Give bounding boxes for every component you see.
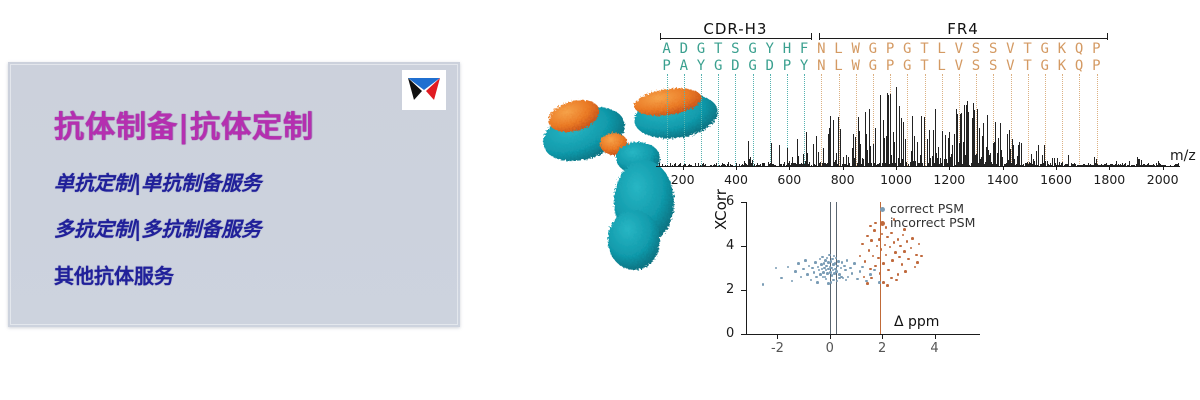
scatter-point-series-0 [816,281,819,284]
scatter-point-series-1 [920,255,923,258]
scatter-point-series-0 [802,268,805,271]
spectrum-tick-label: 200 [671,172,695,187]
spectrum-peak [912,116,913,166]
scatter-point-series-0 [762,283,765,286]
spectrum-peak [921,116,922,166]
region-cdrh3-line [660,38,811,39]
residue: D [761,58,778,74]
scatter-point-series-0 [825,265,828,268]
scatter-point-series-1 [866,282,869,285]
spectrum-peak [986,158,987,166]
scatter-point-series-1 [887,269,890,272]
residue: P [778,58,795,74]
scatter-point-series-1 [903,250,906,253]
scatter-point-series-1 [886,236,889,239]
spectrum-peak [949,133,950,166]
spectrum-peak [797,139,798,166]
residue: G [1036,58,1053,74]
spectrum-peak [929,140,930,166]
scatter-point-series-0 [878,281,881,284]
residue: V [1002,41,1019,57]
scatter-point-series-0 [811,267,814,270]
spectrum-x-axis-label: m/z [1170,148,1196,164]
scatter-point-series-0 [818,269,821,272]
spectrum-peak [816,136,817,166]
spectrum-peak [942,131,943,166]
scatter-point-series-1 [891,259,894,262]
spectrum-peak [1038,145,1039,166]
spectrum-peak [974,110,975,167]
scatter-point-series-0 [849,267,852,270]
spectrum-peak [896,87,897,166]
scatter-point-series-0 [828,254,831,257]
spectrum-peak [901,118,902,166]
spectrum-tick [1163,166,1164,170]
residue: P [658,58,675,74]
spectrum-tick-label: 2000 [1147,172,1179,187]
spectrum-peak [972,118,973,166]
residue: Y [761,41,778,57]
scatter-point-series-0 [861,266,864,269]
scatter-point-series-0 [808,265,811,268]
residue: G [864,58,881,74]
scatter-point-series-1 [890,277,893,280]
scatter-x-tick-label: 2 [878,341,886,356]
scatter-point-series-0 [780,277,783,280]
scatter-point-series-0 [794,270,797,273]
residue: H [778,41,795,57]
scatter-point-series-0 [815,276,818,279]
scatter-point-series-1 [890,232,893,235]
residue: Y [796,58,813,74]
scatter-point-series-1 [901,263,904,266]
scatter-point-series-0 [841,261,844,264]
scatter-point-series-0 [830,260,833,263]
scatter-point-series-1 [878,238,881,241]
residue: T [916,58,933,74]
scatter-point-series-0 [856,278,859,281]
page-title: 抗体制备|抗体定制 [54,102,314,146]
scatter-y-tick [741,202,747,203]
scatter-point-series-1 [870,239,873,242]
residue: S [967,58,984,74]
scatter-point-series-1 [882,262,885,265]
sequence-row-1: ADGTSGYHFNLWGPGTLVSSVTGKQP [658,40,1178,57]
legend-label: incorrect PSM [890,216,975,230]
spectrum-x-axis [656,166,1180,167]
scatter-point-series-1 [863,276,866,279]
scatter-point-series-0 [844,269,847,272]
scatter-point-series-0 [825,278,828,281]
scatter-y-tick-label: 2 [726,282,734,297]
scatter-point-series-1 [911,237,914,240]
scatter-point-series-0 [859,270,862,273]
region-fr4-line [819,38,1107,39]
spectrum-peak [829,157,830,166]
spectrum-peak [977,109,978,166]
scatter-point-series-0 [821,256,824,259]
residue: Y [692,58,709,74]
residue: T [710,41,727,57]
spectrum-peak [966,105,967,166]
residue: S [985,41,1002,57]
spectrum-peak [858,117,859,166]
residue: K [1053,41,1070,57]
scatter-point-series-1 [869,268,872,271]
scatter-point-series-1 [868,249,871,252]
scatter-point-series-1 [859,255,862,258]
scatter-y-tick-label: 6 [726,194,734,209]
spectrum-peak [914,136,915,166]
residue: F [796,41,813,57]
scatter-point-series-0 [845,279,848,282]
scatter-point-series-0 [840,267,843,270]
scatter-point-series-1 [899,245,902,248]
scatter-point-series-0 [840,276,843,279]
spectrum-peak [859,131,860,166]
scatter-point-series-1 [874,222,877,225]
spectrum-peak [838,117,839,166]
legend-label: correct PSM [890,202,964,216]
spectrum-peak [875,128,876,166]
residue: V [1002,58,1019,74]
scatter-point-series-0 [797,262,800,265]
scatter-y-tick [741,246,747,247]
spectrum-peak [880,95,881,166]
scatter-point-series-0 [813,271,816,274]
region-fr4-tick [819,33,820,40]
scatter-point-series-1 [880,248,883,251]
residue: D [727,58,744,74]
scatter-point-series-1 [897,273,900,276]
residue: T [1019,41,1036,57]
scatter-x-axis [746,334,980,335]
legend-item-1: incorrect PSM [880,216,975,230]
spectrum-tick [683,166,684,170]
spectrum-peak [893,132,894,167]
residue: L [830,58,847,74]
scatter-x-tick-label: -2 [771,341,784,356]
scatter-x-tick-label: 4 [930,341,938,356]
spectrum-peak [995,122,996,166]
scatter-point-series-0 [873,269,876,272]
scatter-point-series-0 [822,271,825,274]
residue: L [933,41,950,57]
scatter-y-tick-label: 0 [726,326,734,341]
residue: N [813,41,830,57]
scatter-point-series-0 [800,276,803,279]
region-cdrh3-tick [811,33,812,40]
residue: P [881,41,898,57]
scatter-x-tick [777,334,778,339]
residue: W [847,58,864,74]
xcorr-scatter-plot: XCorr Δ ppm correct PSMincorrect PSM 024… [698,196,978,361]
spectrum-tick-label: 1600 [1040,172,1072,187]
spectrum-peak [813,144,814,166]
scatter-y-tick-label: 4 [726,238,734,253]
scatter-point-series-1 [894,251,897,254]
scatter-point-series-1 [906,240,909,243]
scatter-x-tick [935,334,936,339]
legend-dot-icon [880,207,885,212]
services-panel: 抗体制备|抗体定制 单抗定制|单抗制备服务 多抗定制|多抗制备服务 其他抗体服务 [8,62,460,327]
residue: W [847,41,864,57]
spectrum-tick [789,166,790,170]
scatter-point-series-0 [853,262,856,265]
spectrum-tick-label: 1400 [987,172,1019,187]
scatter-point-series-1 [866,235,869,238]
scatter-x-tick [830,334,831,339]
scatter-point-series-0 [787,266,790,269]
scatter-point-series-1 [918,243,921,246]
spectrum-peak [968,112,969,166]
scatter-point-series-0 [791,280,794,283]
residue: G [710,58,727,74]
scatter-point-series-0 [806,273,809,276]
spectrum-tick [736,166,737,170]
scatter-point-series-0 [829,271,832,274]
spectrum-peak [854,158,855,166]
scatter-point-series-1 [916,261,919,264]
legend-item-0: correct PSM [880,202,975,216]
scatter-point-series-1 [873,229,876,232]
scatter-point-series-1 [914,266,917,269]
spectrum-peak [890,94,891,166]
spectrum-peak [948,138,949,166]
scatter-point-series-0 [837,260,840,263]
scatter-point-series-1 [886,284,889,287]
scatter-y-tick [741,290,747,291]
residue: V [950,41,967,57]
nav-link-polyclonal[interactable]: 多抗定制|多抗制备服务 [54,213,261,242]
spectrum-tick [1056,166,1057,170]
scatter-point-series-1 [898,256,901,259]
nav-link-monoclonal[interactable]: 单抗定制|单抗制备服务 [54,167,261,196]
spectrum-peak [945,135,946,166]
residue: Q [1071,41,1088,57]
scatter-point-series-0 [836,265,839,268]
spectrum-peak [883,120,884,166]
residue: S [727,41,744,57]
scatter-point-series-1 [864,260,867,263]
residue: G [864,41,881,57]
antibody-sequencing-figure: CDR-H3FR4 ADGTSGYHFNLWGPGTLVSSVTGKQP PAY… [520,0,1200,400]
residue: S [985,58,1002,74]
region-cdrh3-tick [660,33,661,40]
spectrum-peak [1007,134,1008,167]
scatter-legend: correct PSMincorrect PSM [880,202,975,230]
spectrum-peak [1013,145,1014,166]
spectrum-peak [833,120,834,166]
residue: G [1036,41,1053,57]
residue: P [1088,58,1105,74]
spectrum-peak [1019,142,1020,166]
scatter-point-series-1 [904,270,907,273]
residue: G [744,41,761,57]
residue: T [916,41,933,57]
residue: Q [1071,58,1088,74]
spectrum-peak [865,112,866,166]
scatter-point-series-1 [876,245,879,248]
region-fr4-tick [1107,33,1108,40]
scatter-point-series-1 [861,243,864,246]
scatter-point-series-1 [907,258,910,261]
spectrum-tick-label: 1000 [880,172,912,187]
company-logo [402,70,446,110]
scatter-point-series-1 [872,255,875,258]
scatter-x-tick-label: 0 [826,341,834,356]
scatter-point-series-0 [817,266,820,269]
scatter-point-series-0 [810,279,813,282]
region-fr4-label: FR4 [947,20,979,38]
scatter-point-series-0 [869,273,872,276]
scatter-point-series-1 [902,234,905,237]
region-cdrh3-label: CDR-H3 [703,20,767,38]
residue: G [692,41,709,57]
residue: G [744,58,761,74]
spectrum-peak [960,114,961,166]
scatter-x-tick [882,334,883,339]
spectrum-peak [998,138,999,166]
scatter-point-series-0 [819,258,822,261]
residue: G [899,58,916,74]
scatter-point-series-1 [870,277,873,280]
residue: D [675,41,692,57]
spectrum-tick-label: 800 [831,172,855,187]
spectrum-tick-label: 400 [724,172,748,187]
scatter-point-series-0 [847,276,850,279]
spectrum-tick [1109,166,1110,170]
scatter-point-series-1 [893,241,896,244]
peptide-sequence-block: ADGTSGYHFNLWGPGTLVSSVTGKQP PAYGDGDPYNLWG… [658,40,1178,74]
spectrum-tick [949,166,950,170]
sequence-row-2: PAYGDGDPYNLWGPGTLVSSVTGKQP [658,57,1178,74]
spectrum-peak [855,137,856,166]
mass-spectrum-peaks [658,78,1178,166]
scatter-point-series-1 [910,247,913,250]
residue: G [899,41,916,57]
scatter-point-series-0 [843,265,846,268]
residue: L [933,58,950,74]
residue: P [881,58,898,74]
nav-link-other-services[interactable]: 其他抗体服务 [54,260,174,289]
spectrum-peak [905,139,906,166]
scatter-point-series-1 [885,254,888,257]
residue: V [950,58,967,74]
spectrum-tick-label: 1800 [1093,172,1125,187]
spectrum-peak [888,95,889,167]
scatter-point-series-1 [884,244,887,247]
residue: K [1053,58,1070,74]
residue: S [967,41,984,57]
spectrum-tick-label: 600 [777,172,801,187]
spectrum-peak [886,136,887,166]
spectrum-tick [896,166,897,170]
scatter-y-tick [741,334,747,335]
residue: A [658,41,675,57]
spectrum-tick [843,166,844,170]
legend-dot-icon [880,221,885,226]
spectrum-peak [924,150,925,166]
spectrum-tick [1003,166,1004,170]
scatter-point-series-1 [895,279,898,282]
spectrum-tick-label: 1200 [933,172,965,187]
scatter-point-series-1 [874,265,877,268]
scatter-point-series-0 [830,281,833,284]
residue: L [830,41,847,57]
spectrum-peak [899,106,900,167]
residue: N [813,58,830,74]
scatter-point-series-0 [835,270,838,273]
residue: P [1088,41,1105,57]
scatter-point-series-0 [804,259,807,262]
residue: T [1019,58,1036,74]
residue: A [675,58,692,74]
scatter-point-series-0 [846,259,849,262]
scatter-point-series-1 [881,233,884,236]
scatter-point-series-0 [851,272,854,275]
scatter-point-series-0 [775,267,778,270]
scatter-point-series-1 [889,246,892,249]
scatter-point-series-1 [897,238,900,241]
scatter-point-series-1 [882,281,885,284]
scatter-point-series-1 [869,225,872,228]
scatter-point-series-1 [915,254,918,257]
spectrum-peak [954,134,955,166]
scatter-point-series-0 [814,261,817,264]
